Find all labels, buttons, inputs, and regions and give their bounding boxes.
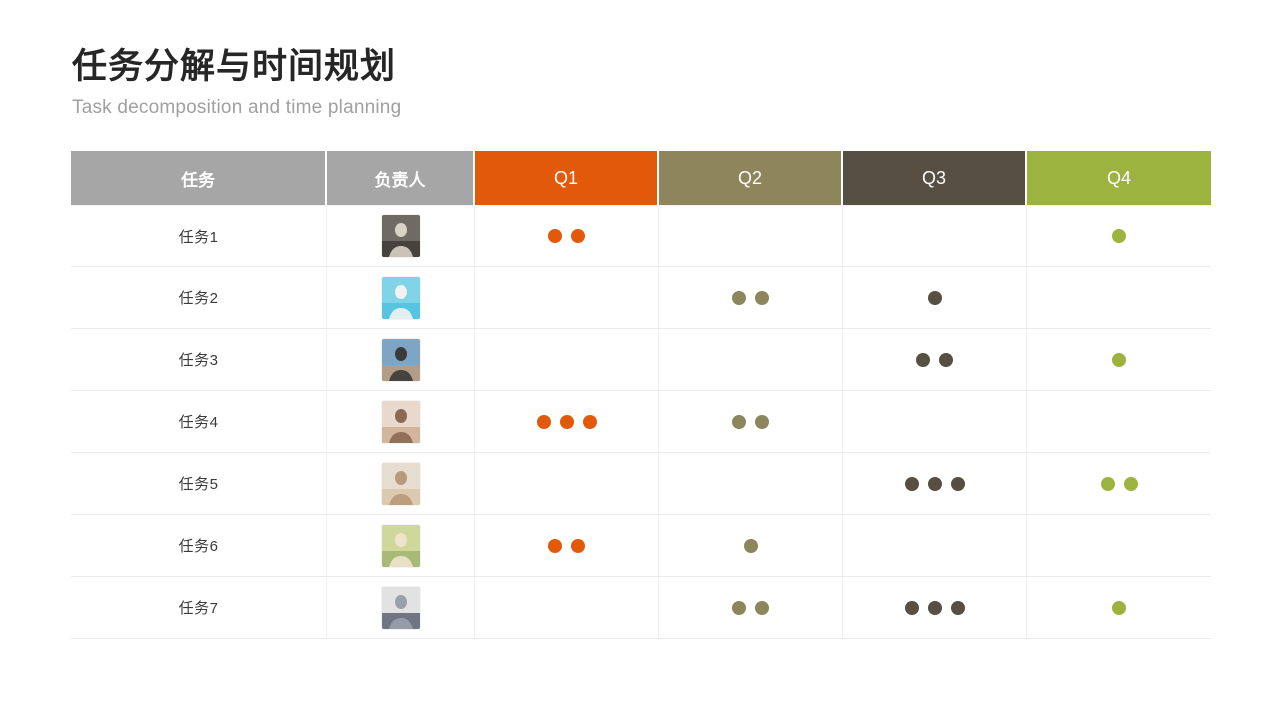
- quarter-cell-q4: [1027, 577, 1211, 639]
- table-header: 任务负责人Q1Q2Q3Q4: [71, 151, 1211, 205]
- effort-dots: [659, 601, 842, 615]
- effort-dots: [475, 539, 658, 553]
- quarter-cell-q2: [659, 577, 843, 639]
- task-name-cell: 任务1: [71, 205, 327, 267]
- effort-dots: [843, 601, 1026, 615]
- column-header-owner[interactable]: 负责人: [327, 151, 475, 205]
- quarter-cell-q4: [1027, 515, 1211, 577]
- avatar: [382, 587, 420, 629]
- slide-canvas: 任务分解与时间规划 Task decomposition and time pl…: [0, 0, 1280, 720]
- effort-dot: [951, 601, 965, 615]
- effort-dots: [1027, 229, 1211, 243]
- effort-dots: [659, 415, 842, 429]
- owner-cell: [327, 453, 475, 515]
- page-title: 任务分解与时间规划: [72, 46, 401, 88]
- quarter-cell-q1: [475, 391, 659, 453]
- column-header-q4[interactable]: Q4: [1027, 151, 1211, 205]
- quarter-cell-q4: [1027, 205, 1211, 267]
- effort-dots: [1027, 353, 1211, 367]
- quarter-cell-q2: [659, 205, 843, 267]
- task-name-label: 任务1: [179, 229, 219, 246]
- effort-dot: [755, 291, 769, 305]
- task-name-label: 任务4: [179, 414, 219, 431]
- effort-dots: [1027, 601, 1211, 615]
- task-name-label: 任务3: [179, 352, 219, 369]
- effort-dots: [843, 291, 1026, 305]
- effort-dot: [905, 601, 919, 615]
- task-name-cell: 任务3: [71, 329, 327, 391]
- effort-dot: [755, 415, 769, 429]
- column-header-q2[interactable]: Q2: [659, 151, 843, 205]
- task-name-cell: 任务5: [71, 453, 327, 515]
- effort-dot: [939, 353, 953, 367]
- task-name-cell: 任务4: [71, 391, 327, 453]
- owner-cell: [327, 391, 475, 453]
- quarter-cell-q3: [843, 515, 1027, 577]
- table-row: 任务2: [71, 267, 1211, 329]
- quarter-cell-q3: [843, 329, 1027, 391]
- task-plan-table: 任务负责人Q1Q2Q3Q4 任务1任务2任务3任务4任务5任务6任务7: [71, 151, 1211, 639]
- task-name-label: 任务2: [179, 290, 219, 307]
- effort-dot: [928, 477, 942, 491]
- effort-dot: [537, 415, 551, 429]
- table-row: 任务3: [71, 329, 1211, 391]
- table-row: 任务7: [71, 577, 1211, 639]
- owner-cell: [327, 205, 475, 267]
- effort-dot: [755, 601, 769, 615]
- effort-dot: [548, 539, 562, 553]
- avatar: [382, 339, 420, 381]
- column-header-q1[interactable]: Q1: [475, 151, 659, 205]
- effort-dots: [475, 229, 658, 243]
- table-row: 任务6: [71, 515, 1211, 577]
- quarter-cell-q2: [659, 453, 843, 515]
- effort-dot: [732, 601, 746, 615]
- quarter-cell-q1: [475, 453, 659, 515]
- effort-dot: [1124, 477, 1138, 491]
- table-row: 任务4: [71, 391, 1211, 453]
- effort-dot: [905, 477, 919, 491]
- effort-dots: [843, 353, 1026, 367]
- plan-table-wrapper: 任务负责人Q1Q2Q3Q4 任务1任务2任务3任务4任务5任务6任务7: [71, 151, 1211, 639]
- avatar: [382, 215, 420, 257]
- page-subtitle: Task decomposition and time planning: [72, 97, 401, 119]
- effort-dot: [951, 477, 965, 491]
- effort-dots: [843, 477, 1026, 491]
- title-block: 任务分解与时间规划 Task decomposition and time pl…: [72, 46, 401, 119]
- effort-dot: [1112, 601, 1126, 615]
- task-name-label: 任务5: [179, 476, 219, 493]
- effort-dots: [475, 415, 658, 429]
- quarter-cell-q3: [843, 577, 1027, 639]
- quarter-cell-q1: [475, 329, 659, 391]
- quarter-cell-q2: [659, 515, 843, 577]
- table-body: 任务1任务2任务3任务4任务5任务6任务7: [71, 205, 1211, 639]
- quarter-cell-q2: [659, 329, 843, 391]
- task-name-cell: 任务2: [71, 267, 327, 329]
- owner-cell: [327, 267, 475, 329]
- effort-dot: [928, 601, 942, 615]
- effort-dot: [1112, 353, 1126, 367]
- quarter-cell-q4: [1027, 329, 1211, 391]
- avatar: [382, 277, 420, 319]
- quarter-cell-q3: [843, 391, 1027, 453]
- task-name-cell: 任务7: [71, 577, 327, 639]
- effort-dot: [744, 539, 758, 553]
- quarter-cell-q3: [843, 205, 1027, 267]
- quarter-cell-q4: [1027, 453, 1211, 515]
- quarter-cell-q3: [843, 267, 1027, 329]
- effort-dot: [571, 229, 585, 243]
- owner-cell: [327, 329, 475, 391]
- quarter-cell-q2: [659, 267, 843, 329]
- effort-dots: [659, 539, 842, 553]
- table-row: 任务1: [71, 205, 1211, 267]
- table-header-row: 任务负责人Q1Q2Q3Q4: [71, 151, 1211, 205]
- effort-dot: [928, 291, 942, 305]
- task-name-label: 任务6: [179, 538, 219, 555]
- effort-dot: [548, 229, 562, 243]
- owner-cell: [327, 577, 475, 639]
- owner-cell: [327, 515, 475, 577]
- quarter-cell-q1: [475, 205, 659, 267]
- avatar: [382, 463, 420, 505]
- column-header-task[interactable]: 任务: [71, 151, 327, 205]
- effort-dot: [560, 415, 574, 429]
- quarter-cell-q1: [475, 577, 659, 639]
- effort-dot: [1112, 229, 1126, 243]
- effort-dot: [583, 415, 597, 429]
- avatar: [382, 525, 420, 567]
- effort-dot: [1101, 477, 1115, 491]
- column-header-q3[interactable]: Q3: [843, 151, 1027, 205]
- effort-dots: [659, 291, 842, 305]
- quarter-cell-q1: [475, 515, 659, 577]
- avatar: [382, 401, 420, 443]
- effort-dot: [571, 539, 585, 553]
- quarter-cell-q4: [1027, 391, 1211, 453]
- effort-dot: [732, 415, 746, 429]
- table-row: 任务5: [71, 453, 1211, 515]
- effort-dot: [916, 353, 930, 367]
- task-name-label: 任务7: [179, 600, 219, 617]
- effort-dots: [1027, 477, 1211, 491]
- task-name-cell: 任务6: [71, 515, 327, 577]
- quarter-cell-q1: [475, 267, 659, 329]
- effort-dot: [732, 291, 746, 305]
- quarter-cell-q4: [1027, 267, 1211, 329]
- quarter-cell-q3: [843, 453, 1027, 515]
- quarter-cell-q2: [659, 391, 843, 453]
